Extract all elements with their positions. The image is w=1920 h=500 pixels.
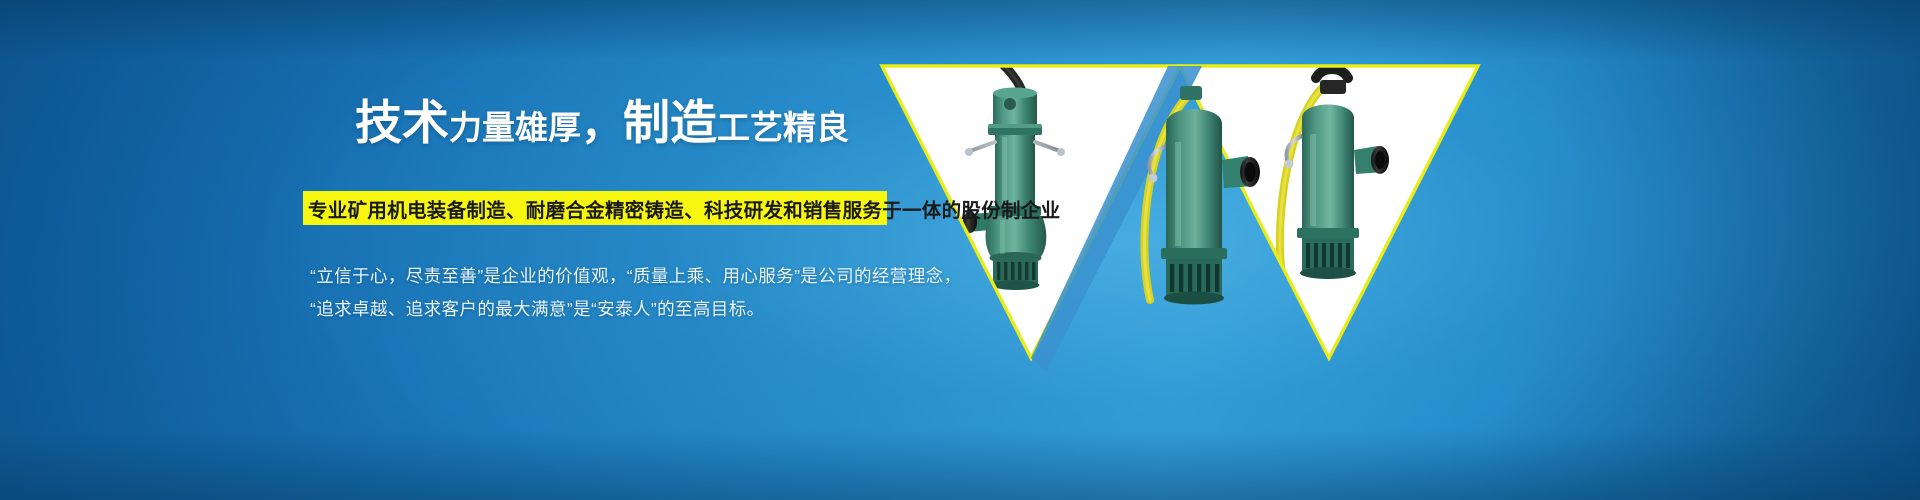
headline-segment-2: 力量雄厚 <box>449 109 581 146</box>
right-triangle <box>1180 66 1478 358</box>
headline-segment-1: 技术 <box>355 96 449 149</box>
headline-segment-3: ， <box>581 101 623 148</box>
triangle-graphics <box>850 0 1920 500</box>
page-title: 技术力量雄厚，制造工艺精良 <box>355 99 849 146</box>
subtitle-highlight-bar: 专业矿用机电装备制造、耐磨合金精密铸造、科技研发和销售服务于一体的股份制企业 <box>303 191 887 225</box>
body-text-line-2: “追求卓越、追求客户的最大满意”是“安泰人”的至高目标。 <box>310 296 765 321</box>
body-text-line-1: “立信于心，尽责至善”是企业的价值观，“质量上乘、用心服务”是公司的经营理念， <box>310 263 961 288</box>
headline-segment-5: 工艺精良 <box>717 109 849 146</box>
product-graphics-zone <box>850 0 1920 500</box>
headline-segment-4: 制造 <box>623 96 717 149</box>
hero-banner: 技术力量雄厚，制造工艺精良 专业矿用机电装备制造、耐磨合金精密铸造、科技研发和销… <box>0 0 1920 500</box>
subtitle-text: 专业矿用机电装备制造、耐磨合金精密铸造、科技研发和销售服务于一体的股份制企业 <box>303 194 1060 223</box>
banner-text-block: 技术力量雄厚，制造工艺精良 专业矿用机电装备制造、耐磨合金精密铸造、科技研发和销… <box>0 0 960 500</box>
